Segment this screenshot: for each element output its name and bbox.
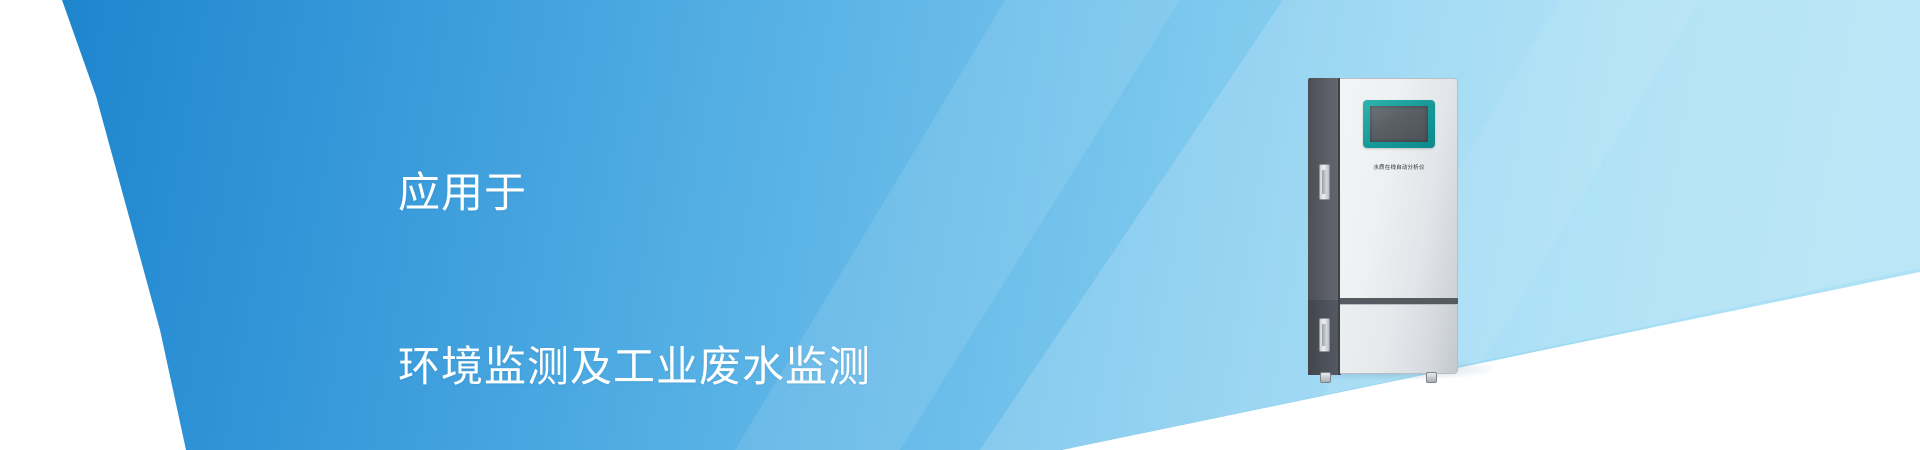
page-title: 应用于 环境监测及工业废水监测 (398, 48, 1158, 450)
device-caster-right (1426, 372, 1437, 383)
device-lower-door (1340, 304, 1458, 374)
device-lower-handle (1319, 318, 1330, 352)
analyzer-device-image: 水质在线自动分析仪 (1308, 78, 1458, 383)
device-screen-glass (1370, 106, 1428, 142)
device-caster-left (1320, 372, 1331, 383)
headline-line-1: 应用于 (398, 164, 1158, 222)
device-upper-handle (1319, 164, 1330, 200)
hero-banner: 应用于 环境监测及工业废水监测 自动标定/自动清洗/自动恢复/标定核查 点击了解… (0, 0, 1920, 450)
device-front-label: 水质在线自动分析仪 (1345, 164, 1454, 171)
banner-copy-block: 应用于 环境监测及工业废水监测 自动标定/自动清洗/自动恢复/标定核查 点击了解 (398, 48, 1158, 450)
device-screen-bezel (1363, 100, 1435, 148)
headline-line-2: 环境监测及工业废水监测 (398, 338, 1158, 396)
